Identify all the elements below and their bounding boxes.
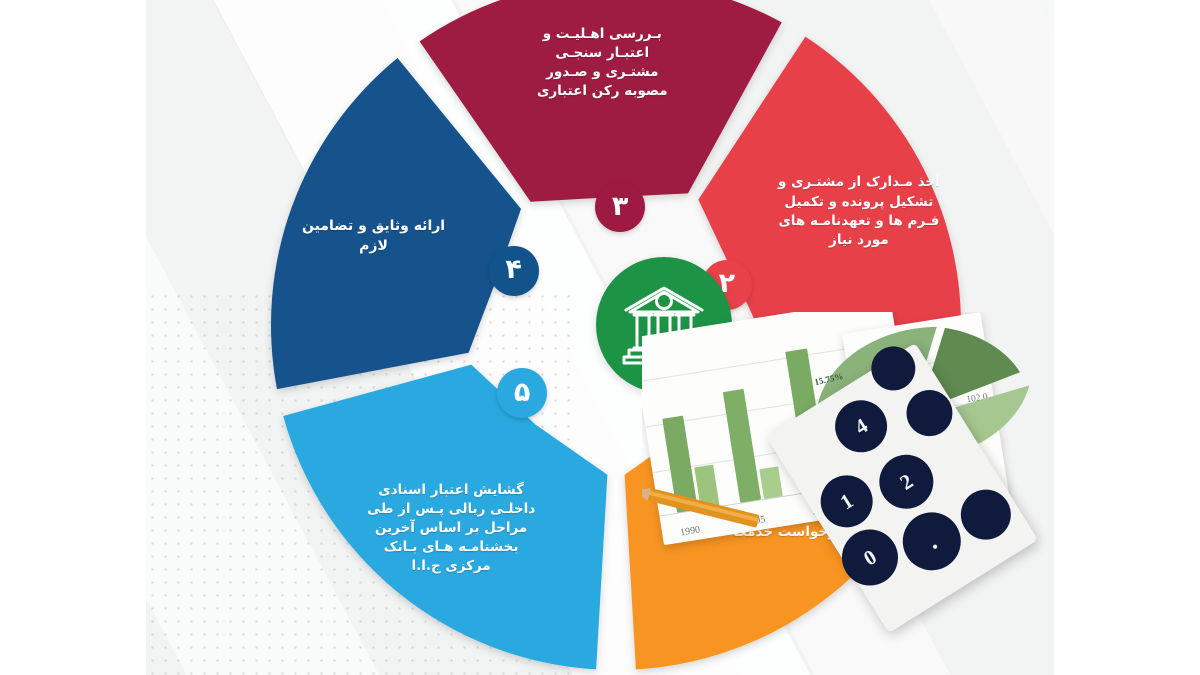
calc-key-extra-bottom[interactable]	[951, 480, 1020, 549]
infographic-canvas: مراجعه مشتری و ارائهدرخواست خدمت اخذ مـد…	[146, 0, 1054, 675]
step-badge-5[interactable]: ۵	[497, 368, 547, 418]
infographic-stage: مراجعه مشتری و ارائهدرخواست خدمت اخذ مـد…	[0, 0, 1200, 675]
calc-key-1[interactable]: 1	[811, 466, 883, 538]
letterbox-right	[1054, 0, 1200, 675]
business-photo-collage: 30.00 20.00 10.00 1990 1995 200 104. 102…	[642, 312, 1054, 675]
step-badge-3[interactable]: ۳	[595, 182, 645, 232]
calc-key-0[interactable]: 0	[831, 519, 908, 596]
step-badge-5-number: ۵	[514, 379, 530, 408]
step-badge-4-number: ۴	[505, 256, 521, 285]
calc-key-2[interactable]: 2	[869, 445, 943, 519]
letterbox-left	[0, 0, 146, 675]
step-badge-4[interactable]: ۴	[489, 246, 539, 296]
wheel-segment-5[interactable]	[283, 365, 607, 670]
bar-chart-xtick-1990: 1990	[679, 524, 700, 538]
calc-key-4[interactable]: 4	[825, 390, 897, 462]
step-badge-3-number: ۳	[612, 193, 628, 222]
